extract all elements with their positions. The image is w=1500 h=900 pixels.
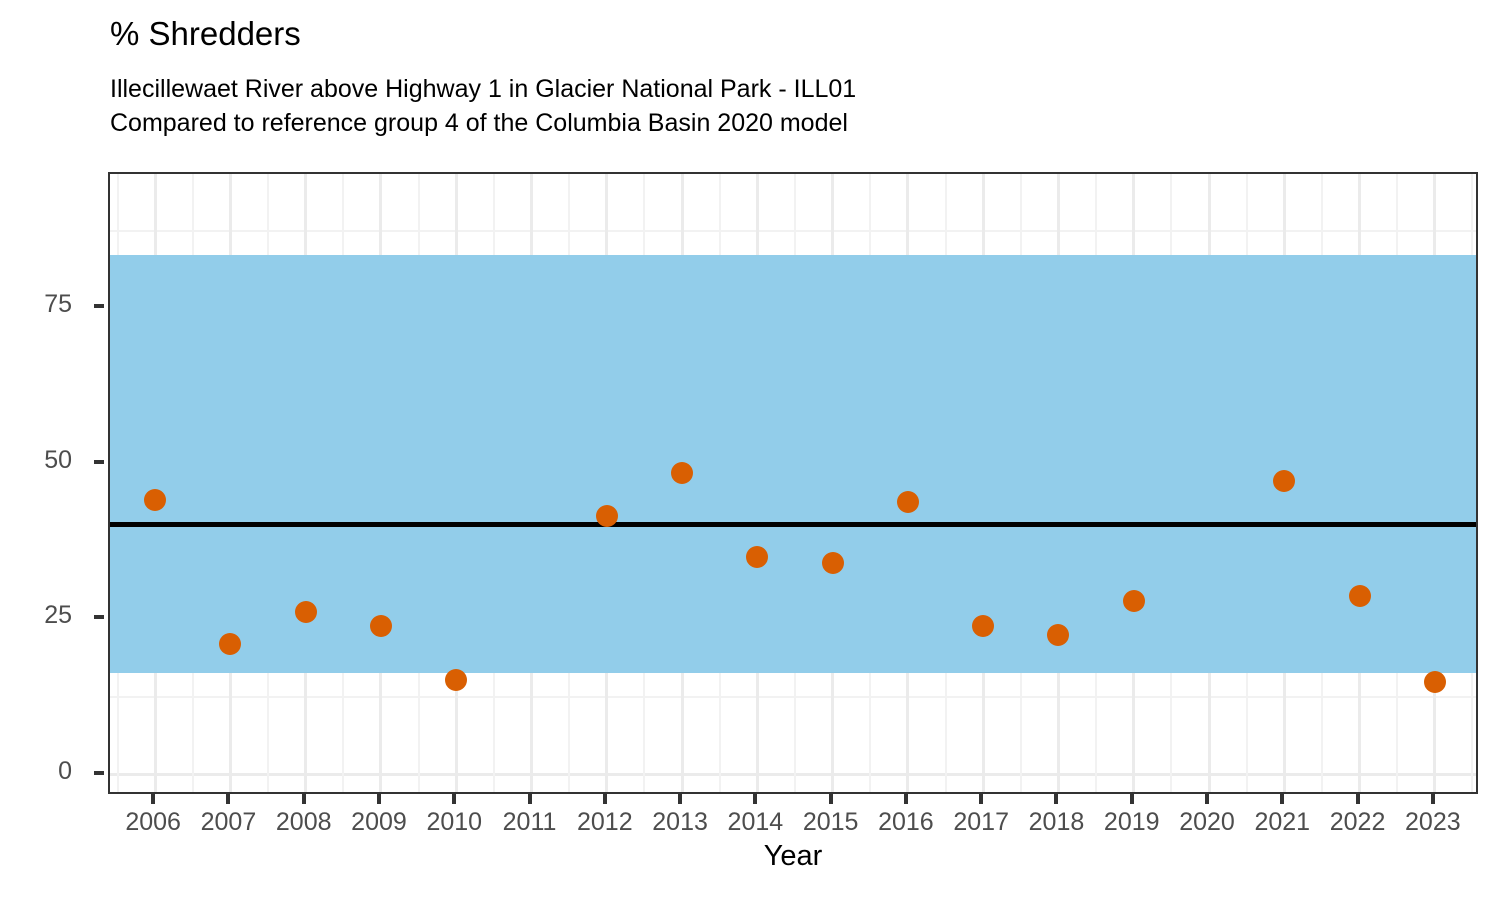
gridline-major-horizontal xyxy=(110,773,1476,776)
data-point[interactable] xyxy=(370,615,392,637)
data-point[interactable] xyxy=(746,546,768,568)
x-tick-mark xyxy=(151,794,155,804)
x-tick-mark xyxy=(1205,794,1209,804)
gridline-minor-horizontal xyxy=(110,696,1476,698)
plot-panel xyxy=(108,172,1478,794)
data-point[interactable] xyxy=(144,489,166,511)
page-title: % Shredders xyxy=(110,14,1450,54)
x-tick-mark xyxy=(829,794,833,804)
x-tick-mark xyxy=(302,794,306,804)
y-tick-mark xyxy=(94,304,104,308)
data-point[interactable] xyxy=(219,633,241,655)
title-block: % Shredders Illecillewaet River above Hi… xyxy=(110,14,1450,140)
y-axis-title: % Shredders xyxy=(0,0,40,212)
data-point[interactable] xyxy=(1424,671,1446,693)
x-tick-mark xyxy=(979,794,983,804)
y-tick-mark xyxy=(94,460,104,464)
x-tick-mark xyxy=(1356,794,1360,804)
x-tick-mark xyxy=(1431,794,1435,804)
y-tick-mark xyxy=(94,771,104,775)
y-tick-label: 25 xyxy=(0,601,86,630)
data-point[interactable] xyxy=(1123,590,1145,612)
x-tick-mark xyxy=(603,794,607,804)
x-axis-title: Year xyxy=(108,840,1478,873)
reference-median-line xyxy=(110,522,1476,527)
x-tick-mark xyxy=(1280,794,1284,804)
x-tick-mark xyxy=(452,794,456,804)
plot-area xyxy=(110,174,1476,792)
data-point[interactable] xyxy=(295,601,317,623)
x-tick-mark xyxy=(753,794,757,804)
x-tick-mark xyxy=(1054,794,1058,804)
x-tick-mark xyxy=(904,794,908,804)
x-tick-mark xyxy=(678,794,682,804)
x-tick-mark xyxy=(528,794,532,804)
y-tick-label: 0 xyxy=(0,757,86,786)
y-tick-mark xyxy=(94,615,104,619)
chart-figure: % Shredders Illecillewaet River above Hi… xyxy=(0,0,1500,900)
y-tick-label: 75 xyxy=(0,290,86,319)
data-point[interactable] xyxy=(822,552,844,574)
chart-subtitle: Illecillewaet River above Highway 1 in G… xyxy=(110,54,1450,140)
x-tick-label: 2023 xyxy=(1373,808,1493,837)
x-tick-mark xyxy=(377,794,381,804)
x-tick-mark xyxy=(226,794,230,804)
x-tick-mark xyxy=(1130,794,1134,804)
gridline-minor-horizontal xyxy=(110,230,1476,232)
data-point[interactable] xyxy=(596,505,618,527)
data-point[interactable] xyxy=(1349,585,1371,607)
data-point[interactable] xyxy=(897,491,919,513)
data-point[interactable] xyxy=(445,669,467,691)
y-tick-label: 50 xyxy=(0,446,86,475)
